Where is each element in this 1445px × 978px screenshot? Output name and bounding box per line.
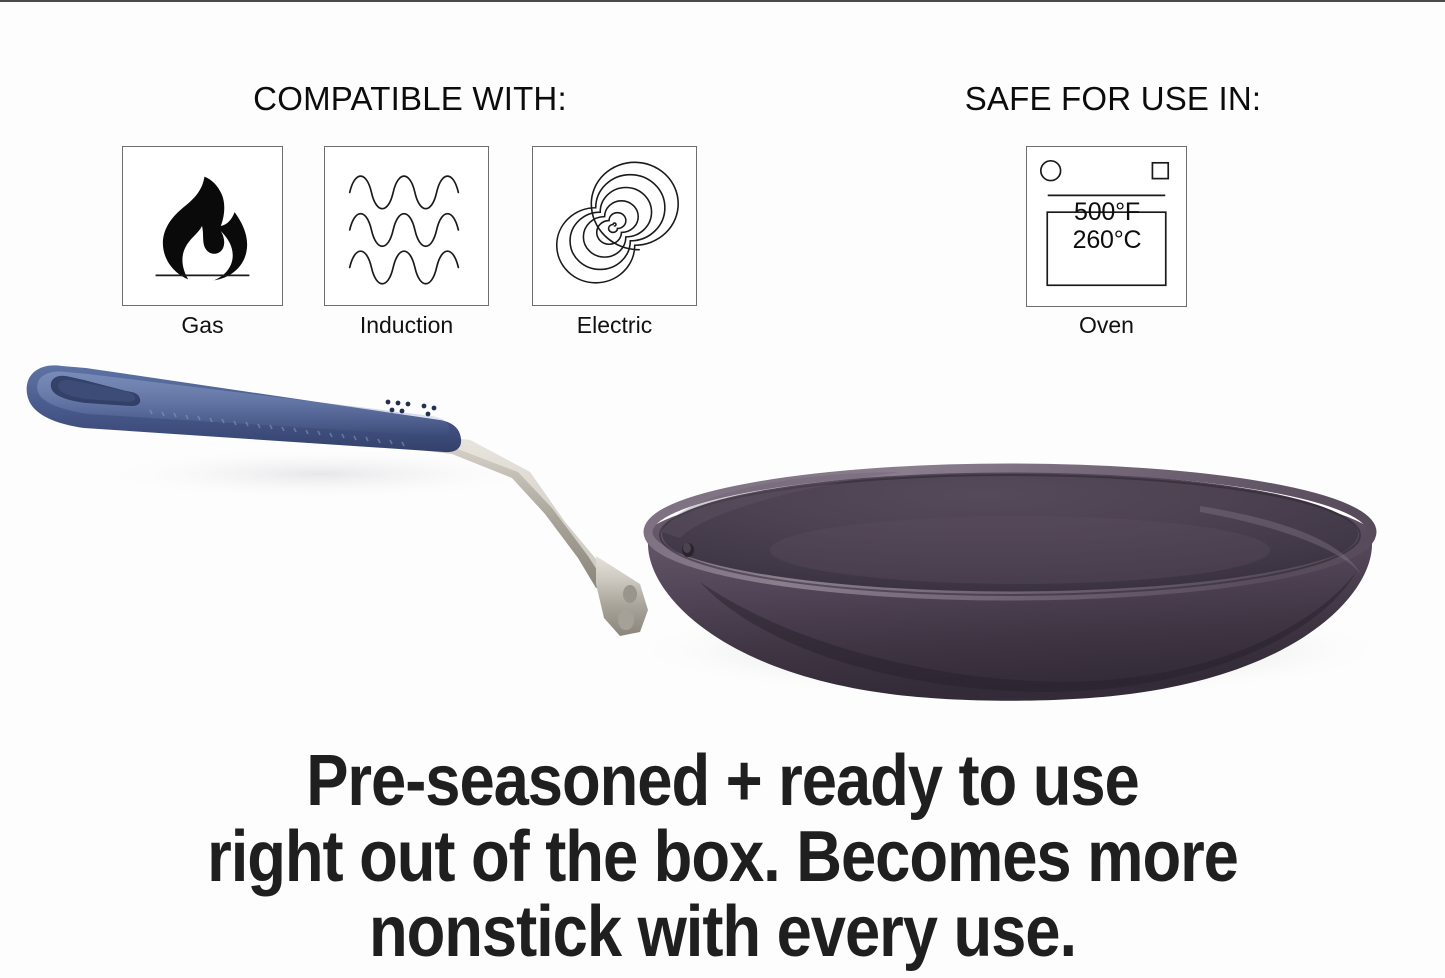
compatible-with-heading: COMPATIBLE WITH:	[122, 80, 698, 118]
electric-icon-box	[532, 146, 697, 306]
induction-icon-box	[324, 146, 489, 306]
headline-line-2: right out of the box. Becomes more	[87, 820, 1359, 896]
headline-line-3: nonstick with every use.	[87, 895, 1359, 971]
safe-for-use-heading: SAFE FOR USE IN:	[926, 80, 1300, 118]
product-infographic: COMPATIBLE WITH: Gas Induction Electric …	[0, 0, 1445, 978]
headline-line-1: Pre-seasoned + ready to use	[87, 744, 1359, 820]
oven-indicator-square-icon	[1152, 163, 1168, 179]
gas-icon-box	[122, 146, 283, 306]
induction-waves-icon	[325, 147, 488, 305]
gas-flame-icon	[123, 147, 282, 305]
headline: Pre-seasoned + ready to use right out of…	[0, 744, 1445, 971]
oven-temperature-rating: 500°F 260°C	[1044, 198, 1170, 255]
oven-temp-celsius: 260°C	[1044, 226, 1170, 254]
frying-pan-photo	[0, 332, 1445, 732]
oven-temp-fahrenheit: 500°F	[1044, 198, 1170, 226]
electric-coil-spiral-icon	[533, 147, 696, 305]
pan-handle-grip	[27, 365, 461, 452]
oven-knob-circle-icon	[1041, 161, 1061, 181]
